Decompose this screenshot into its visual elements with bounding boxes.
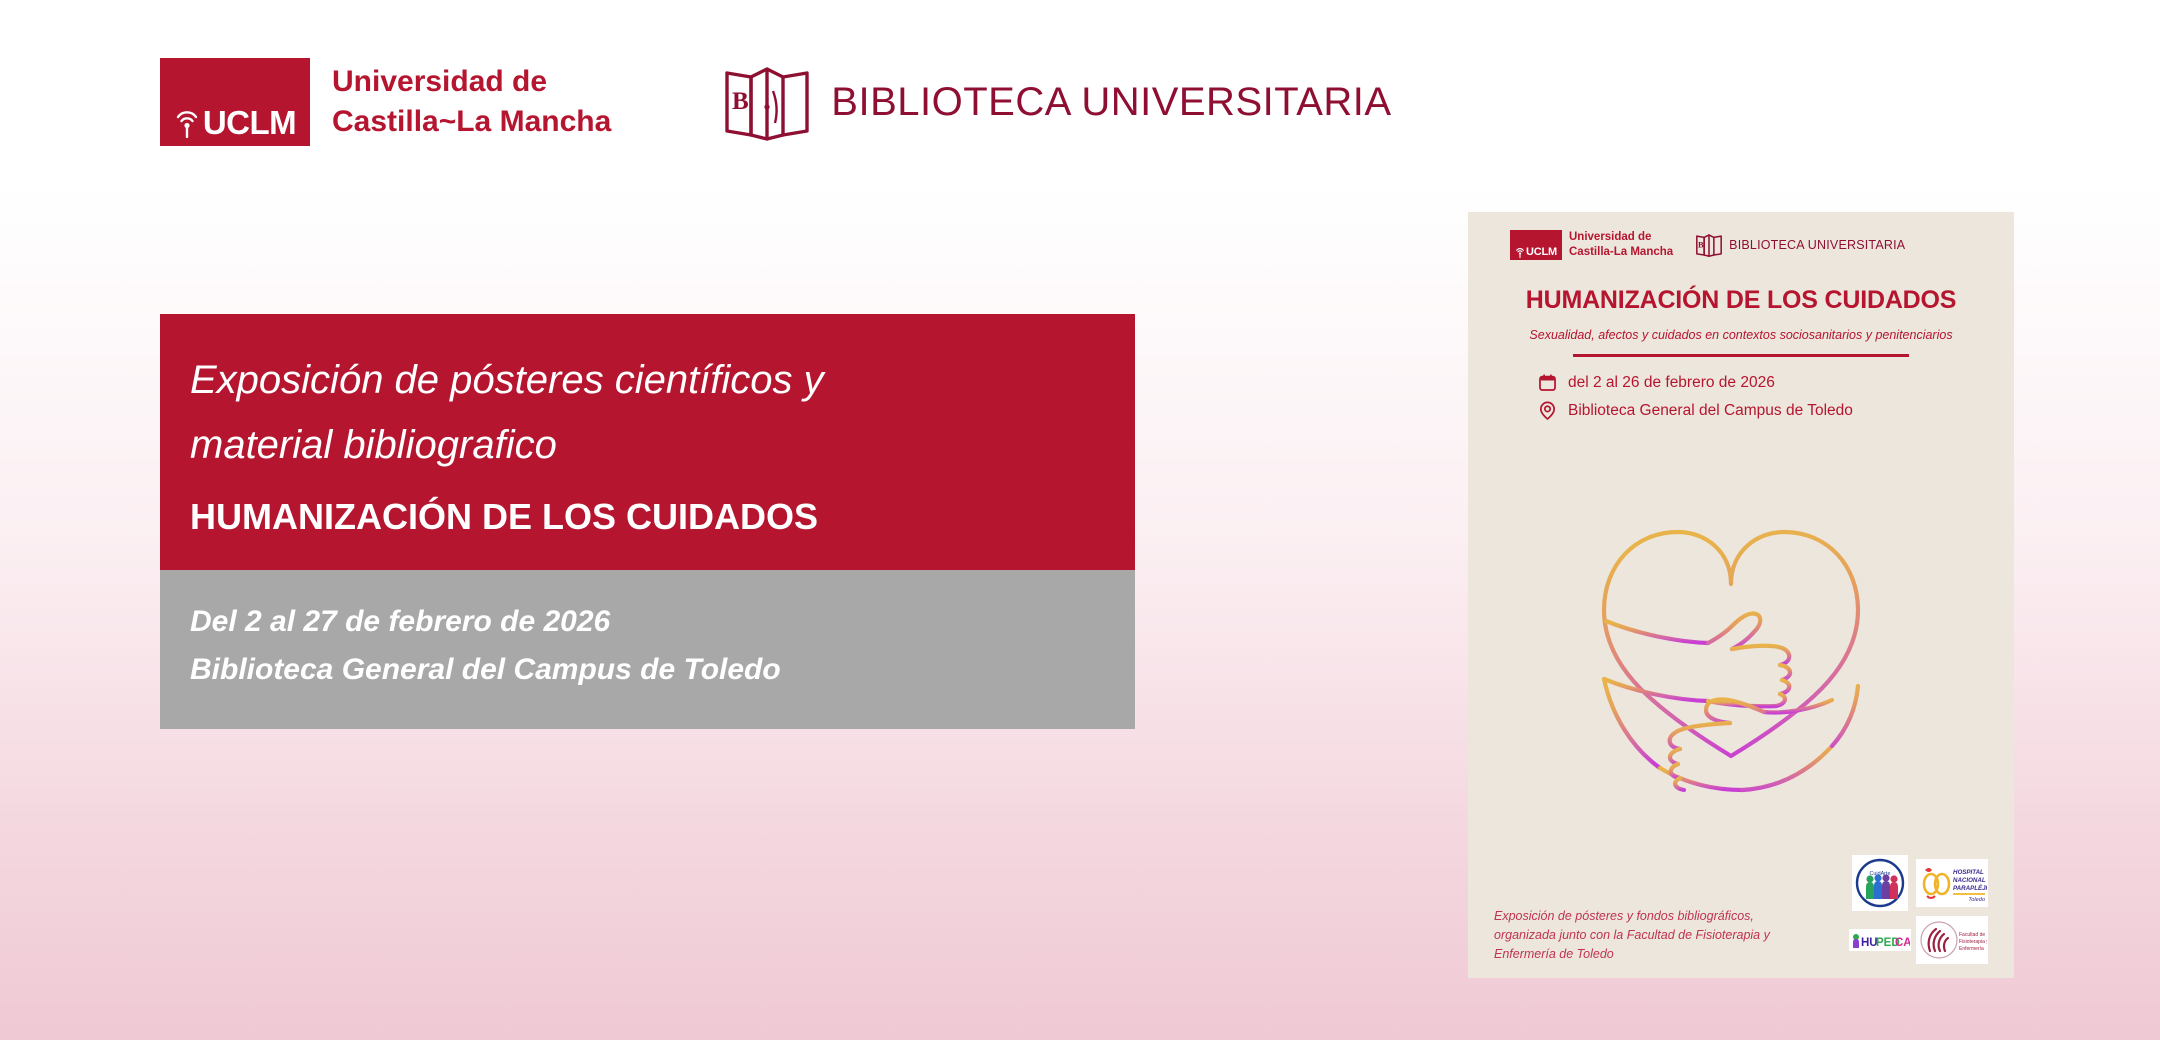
event-poster[interactable]: UCLM Universidad de Castilla-La Mancha B… [1468,212,2014,978]
poster-library-label: BIBLIOTECA UNIVERSITARIA [1729,238,1905,252]
heart-embraced-by-arms-illustration [1526,494,1956,794]
poster-info-list: del 2 al 26 de febrero de 2026 Bibliotec… [1494,373,1988,429]
poster-subtitle: Sexualidad, afectos y cuidados en contex… [1494,328,1988,342]
open-book-icon: B [1695,232,1723,258]
uclm-wifi-icon [174,108,200,138]
poster-title: HUMANIZACIÓN DE LOS CUIDADOS [1494,286,1988,315]
poster-footer: Exposición de pósteres y fondos bibliogr… [1494,855,1988,964]
cuidarte-logo: CuidArte [1852,855,1908,911]
banner-title-line2: material bibliografico [190,413,1105,478]
svg-text:NACIONAL DE: NACIONAL DE [1953,877,1987,884]
hupedcare-logo: HU PED CARE [1849,929,1911,951]
uclm-name-block: Universidad de Castilla~La Mancha [332,58,611,146]
banner-title-line1: Exposición de pósteres científicos y [190,348,1105,413]
poster-uclm-name-line2: Castilla-La Mancha [1569,245,1673,260]
svg-text:HOSPITAL: HOSPITAL [1953,869,1984,876]
svg-text:Fisioterapia y: Fisioterapia y [1959,939,1987,945]
uclm-wifi-icon [1515,247,1525,258]
poster-date-row: del 2 al 26 de febrero de 2026 [1538,373,1988,392]
svg-text:Toledo: Toledo [1968,897,1985,903]
hupedcare-logo-icon: HU PED CARE [1850,930,1910,950]
facultad-logo-icon: Facultad de Fisioterapia y Enfermería [1917,917,1987,963]
uclm-logo-lockup: UCLM Universidad de Castilla~La Mancha [160,58,611,146]
event-banner: Exposición de pósteres científicos y mat… [160,314,1135,729]
uclm-name-line2: Castilla~La Mancha [332,102,611,142]
location-pin-icon [1538,401,1557,420]
banner-red-block: Exposición de pósteres científicos y mat… [160,314,1135,570]
poster-uclm-name-block: Universidad de Castilla-La Mancha [1569,230,1673,260]
svg-text:B: B [732,88,749,115]
poster-divider [1573,354,1909,357]
poster-uclm-name-line1: Universidad de [1569,230,1673,245]
open-book-icon: B [721,61,813,143]
uclm-name-line1: Universidad de [332,62,611,102]
svg-text:B: B [1698,240,1704,250]
banner-dates: Del 2 al 27 de febrero de 2026 [190,598,1105,647]
library-logo-lockup: B BIBLIOTECA UNIVERSITARIA [721,61,1391,143]
poster-venue-row: Biblioteca General del Campus de Toledo [1538,401,1988,420]
poster-venue-text: Biblioteca General del Campus de Toledo [1568,402,1853,420]
poster-footer-note: Exposición de pósteres y fondos bibliogr… [1494,907,1814,964]
uclm-wordmark: UCLM [203,106,296,139]
poster-logo-row: UCLM Universidad de Castilla-La Mancha B… [1494,230,1988,260]
poster-library-logo-lockup: B BIBLIOTECA UNIVERSITARIA [1695,232,1905,258]
page-header: UCLM Universidad de Castilla~La Mancha B… [160,58,1392,146]
facultad-fisioterapia-enfermeria-logo: Facultad de Fisioterapia y Enfermería [1916,916,1988,964]
poster-uclm-wordmark: UCLM [1526,247,1557,258]
poster-uclm-logo-mark: UCLM [1510,230,1562,260]
svg-text:CARE: CARE [1895,937,1910,949]
banner-venue: Biblioteca General del Campus de Toledo [190,646,1105,695]
calendar-icon [1538,373,1557,392]
svg-text:Enfermería: Enfermería [1959,946,1984,952]
poster-artwork [1494,433,1988,855]
hospital-nacional-paraplejicos-logo: HOSPITAL NACIONAL DE PARAPLÉJICOS Toledo [1916,859,1988,907]
uclm-logo-mark: UCLM [160,58,310,146]
hospital-logo-icon: HOSPITAL NACIONAL DE PARAPLÉJICOS Toledo [1917,860,1987,906]
library-label: BIBLIOTECA UNIVERSITARIA [831,80,1391,125]
svg-text:PARAPLÉJICOS: PARAPLÉJICOS [1953,884,1987,892]
banner-subject: HUMANIZACIÓN DE LOS CUIDADOS [190,490,1105,544]
cuidarte-logo-icon: CuidArte [1854,857,1906,909]
banner-gray-block: Del 2 al 27 de febrero de 2026 Bibliotec… [160,570,1135,729]
poster-date-text: del 2 al 26 de febrero de 2026 [1568,374,1775,392]
poster-sponsor-logos: CuidArte HOSPITAL [1849,855,1988,964]
svg-text:Facultad de: Facultad de [1959,932,1985,938]
poster-uclm-logo-lockup: UCLM Universidad de Castilla-La Mancha [1510,230,1673,260]
